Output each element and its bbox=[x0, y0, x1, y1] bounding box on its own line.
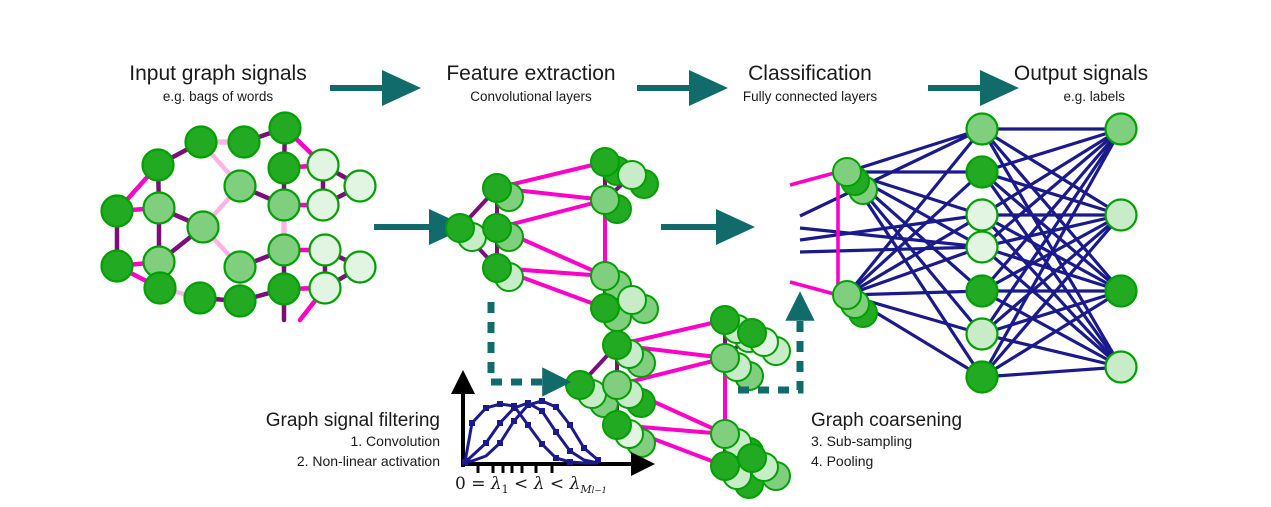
fc-output-nodes bbox=[1106, 114, 1137, 383]
coarsened-graph-nodes bbox=[566, 306, 790, 498]
graph-node bbox=[185, 283, 216, 314]
graph-node bbox=[225, 286, 256, 317]
fc-edges-layer1 bbox=[800, 129, 982, 377]
stage-header-input: Input graph signals e.g. bags of words bbox=[129, 62, 306, 104]
stage-title-feature: Feature extraction bbox=[446, 62, 615, 85]
graph-node bbox=[144, 193, 175, 224]
graph-node bbox=[269, 190, 300, 221]
graph-node bbox=[308, 150, 339, 181]
graph-node bbox=[225, 171, 256, 202]
stage-header-output: Output signals e.g. labels bbox=[1014, 62, 1148, 104]
graph-node bbox=[102, 196, 133, 227]
coarsened-graph bbox=[566, 306, 790, 498]
graph-node bbox=[310, 273, 341, 304]
graph-node bbox=[102, 251, 133, 282]
caption-line-nonlinear: 2. Non-linear activation bbox=[297, 453, 440, 469]
stage-header-classification: Classification Fully connected layers bbox=[743, 62, 878, 104]
stage-header-feature: Feature extraction Convolutional layers bbox=[446, 62, 615, 104]
stage-subtitle-feature: Convolutional layers bbox=[470, 89, 592, 104]
graph-node bbox=[143, 150, 174, 181]
fc-edges-layer2 bbox=[982, 129, 1121, 377]
graph-node bbox=[269, 274, 300, 305]
caption-title-filtering: Graph signal filtering bbox=[266, 410, 440, 431]
fc-hidden-nodes bbox=[967, 114, 998, 393]
graph-node bbox=[225, 252, 256, 283]
fully-connected-network bbox=[790, 114, 1137, 393]
figure-canvas: Input graph signals e.g. bags of words F… bbox=[0, 0, 1271, 507]
graph-node bbox=[310, 235, 341, 266]
stage-subtitle-output: e.g. labels bbox=[1063, 89, 1125, 104]
graph-node bbox=[229, 127, 260, 158]
caption-graph-coarsening: Graph coarsening 3. Sub-sampling 4. Pool… bbox=[811, 410, 962, 469]
graph-node bbox=[145, 273, 176, 304]
graph-node bbox=[270, 113, 301, 144]
input-graph bbox=[102, 113, 376, 321]
stage-subtitle-input: e.g. bags of words bbox=[163, 89, 274, 104]
diagram-svg: Input graph signals e.g. bags of words F… bbox=[0, 0, 1271, 507]
input-graph-nodes bbox=[102, 113, 376, 317]
graph-node bbox=[308, 190, 339, 221]
graph-node bbox=[269, 235, 300, 266]
plot-x-axis-formula: 0 = λ1 < λ < λMl−1 bbox=[455, 474, 607, 496]
feature-extraction-graph bbox=[446, 148, 658, 331]
graph-node bbox=[186, 127, 217, 158]
stage-title-output: Output signals bbox=[1014, 62, 1148, 85]
graph-node bbox=[188, 212, 219, 243]
caption-title-coarsening: Graph coarsening bbox=[811, 410, 962, 431]
stage-subtitle-classification: Fully connected layers bbox=[743, 89, 878, 104]
graph-node bbox=[345, 252, 376, 283]
caption-line-convolution: 1. Convolution bbox=[350, 433, 440, 449]
graph-node bbox=[269, 153, 300, 184]
caption-graph-signal-filtering: Graph signal filtering 1. Convolution 2.… bbox=[266, 410, 440, 469]
stage-title-classification: Classification bbox=[748, 62, 872, 85]
caption-line-subsampling: 3. Sub-sampling bbox=[811, 433, 912, 449]
caption-line-pooling: 4. Pooling bbox=[811, 453, 873, 469]
stage-title-input: Input graph signals bbox=[129, 62, 306, 85]
graph-node bbox=[345, 171, 376, 202]
arrow-dashed-elbow-down-right-icon bbox=[491, 302, 545, 382]
